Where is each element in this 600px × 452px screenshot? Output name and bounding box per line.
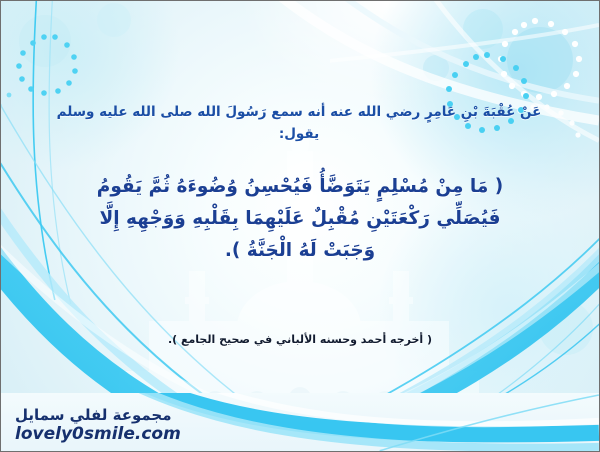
brand-arabic: مجموعة لفلي سمايل [15,408,181,423]
brand-block: مجموعة لفلي سمايل lovely0smile.com [15,408,181,443]
card-content: عَنْ عُقْبَةَ بْنِ عَامِرٍ رضي الله عنه … [1,1,599,451]
footer-brand-bar: مجموعة لفلي سمايل lovely0smile.com [1,393,599,451]
hadith-text: ( مَا مِنْ مُسْلِمٍ يَتَوَضَّأُ فَيُحْسِ… [35,171,565,266]
hadith-card: عَنْ عُقْبَةَ بْنِ عَامِرٍ رضي الله عنه … [0,0,600,452]
hadith-line: وَجَبَتْ لَهُ الْجَنَّةُ ). [35,235,565,267]
hadith-line: فَيُصَلِّي رَكْعَتَيْنِ مُقْبِلٌ عَلَيْه… [35,203,565,235]
brand-url: lovely0smile.com [15,426,181,443]
narrator-line: عَنْ عُقْبَةَ بْنِ عَامِرٍ رضي الله عنه … [41,101,557,146]
hadith-source: ( أخرجه أحمد وحسنه الألباني في صحيح الجا… [1,333,599,346]
hadith-line: ( مَا مِنْ مُسْلِمٍ يَتَوَضَّأُ فَيُحْسِ… [35,171,565,203]
